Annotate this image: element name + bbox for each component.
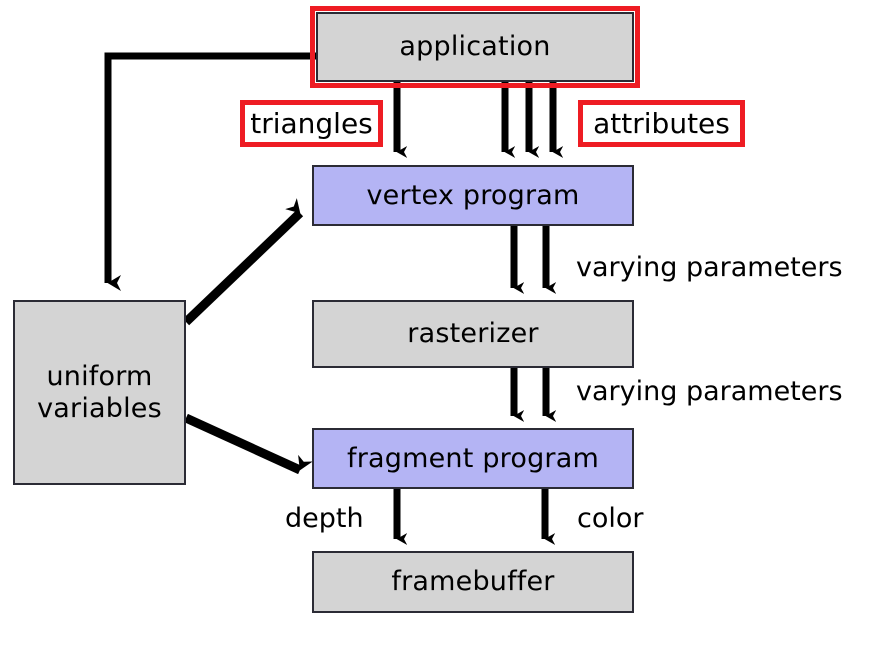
edge-application-to-uniform-variables [108,56,316,283]
edge-vertex-to-rasterizer [514,226,546,288]
edge-label-depth: depth [285,503,364,534]
node-fragment-program-label: fragment program [347,443,599,475]
node-application-label: application [399,31,550,63]
node-vertex-program-label: vertex program [366,180,579,212]
node-application[interactable]: application [316,12,634,82]
edge-uniform-to-vertex [186,213,300,322]
node-framebuffer[interactable]: framebuffer [312,551,634,613]
node-uniform-variables-label-line2: variables [37,393,162,425]
node-framebuffer-label: framebuffer [391,566,554,598]
edge-label-varying-parameters-2: varying parameters [576,376,843,407]
edge-label-varying-parameters-2-text: varying parameters [576,376,843,407]
edge-label-color: color [577,503,644,534]
edge-label-attributes: attributes [578,100,745,147]
pipeline-diagram: application vertex program rasterizer fr… [0,0,869,662]
edge-label-triangles-text: triangles [250,107,373,140]
edge-label-triangles: triangles [240,100,383,147]
node-uniform-variables-label-line1: uniform [46,361,152,393]
edge-application-to-vertex-attributes [505,82,553,152]
node-uniform-variables[interactable]: uniform variables [13,300,186,485]
edge-label-depth-text: depth [285,503,364,534]
node-vertex-program[interactable]: vertex program [312,165,634,226]
edge-uniform-to-fragment [186,418,300,470]
node-rasterizer-label: rasterizer [407,318,538,350]
edge-label-varying-parameters-1-text: varying parameters [576,252,843,283]
node-fragment-program[interactable]: fragment program [312,428,634,489]
node-rasterizer[interactable]: rasterizer [312,300,634,368]
edge-label-varying-parameters-1: varying parameters [576,252,843,283]
edge-label-color-text: color [577,503,644,534]
edge-label-attributes-text: attributes [593,107,730,140]
edge-rasterizer-to-fragment [514,368,546,416]
